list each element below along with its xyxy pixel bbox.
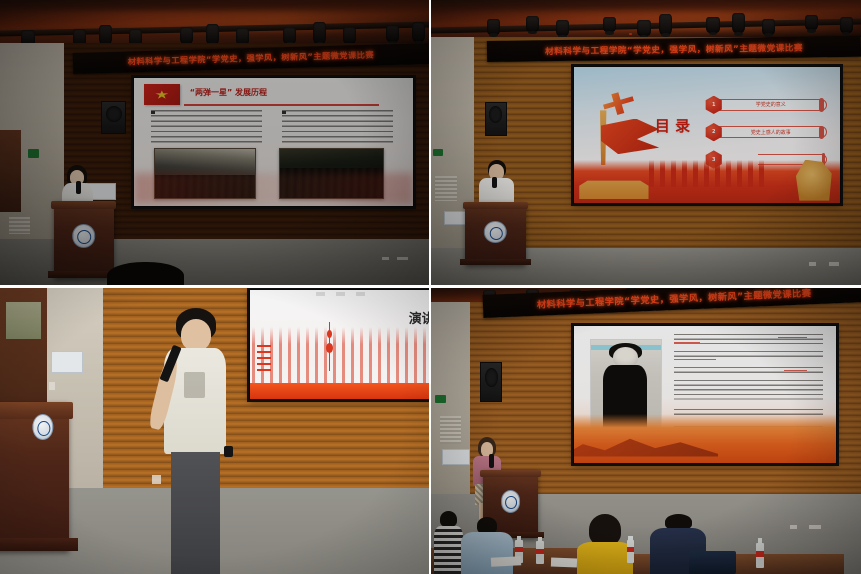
wall-notice-plate xyxy=(442,449,470,465)
oriental-pearl-tower-icon xyxy=(325,322,333,371)
stage-light-icon xyxy=(637,20,650,36)
exit-sign-icon xyxy=(435,395,446,403)
slide-two-bombs-one-satellite: “两弹一星” 发展历程 xyxy=(134,78,413,206)
glass-pane xyxy=(6,302,40,339)
screen-corner-mark xyxy=(382,257,389,261)
exit-sign-icon xyxy=(433,149,443,156)
wall-vent xyxy=(435,176,457,201)
screen-corner-mark xyxy=(397,257,407,261)
slide-table-of-contents: 目 录 1 学党史的意义 2 党史上感人的故事 3 xyxy=(574,67,841,204)
led-screen-tr: 目 录 1 学党史的意义 2 党史上感人的故事 3 xyxy=(573,66,842,205)
water-bottle xyxy=(536,541,544,564)
stage-light-icon xyxy=(412,22,425,43)
hair xyxy=(589,514,620,545)
wall-notice-plate xyxy=(51,351,83,373)
torso xyxy=(461,532,513,574)
wall-vent xyxy=(440,416,462,443)
screen-corner-mark xyxy=(829,262,839,265)
audience-head-foreground xyxy=(107,262,184,285)
stage-light-icon xyxy=(762,19,775,35)
toc-row-1[interactable]: 1 学党史的意义 xyxy=(702,97,827,113)
red-base-band xyxy=(250,383,429,399)
podium-base xyxy=(0,538,78,551)
university-emblem-icon xyxy=(32,414,53,440)
stage-light-icon xyxy=(805,15,818,31)
highlight-underline xyxy=(674,359,716,360)
mountain-graphic xyxy=(574,414,836,463)
title-underline xyxy=(184,104,379,106)
slide-title: 演讲 xyxy=(409,308,429,327)
light-indicator-icon xyxy=(629,33,632,34)
auditorium-scene-tr: 材料科学与工程学院“学党史，强学风，树新风”主题微党课比赛 目 录 1 学党史的… xyxy=(431,0,861,285)
party-emblem-icon xyxy=(595,88,640,118)
presenter-male-standing-bl xyxy=(154,308,236,574)
slide-toolbar-strip xyxy=(316,292,373,296)
water-bottle xyxy=(627,540,635,563)
podium-bl xyxy=(0,402,69,551)
wall-speaker xyxy=(101,101,127,134)
slide-title-text: 目 录 xyxy=(655,117,690,136)
screen-corner-mark xyxy=(809,525,820,528)
stage-light-icon xyxy=(283,27,296,44)
stage-light-icon xyxy=(659,14,672,35)
briefcase xyxy=(689,551,736,574)
document-sheet xyxy=(491,556,522,566)
document-sheet xyxy=(551,558,577,567)
slide-paragraph-left xyxy=(151,110,263,143)
photo-cell-bottom-right: 材料科学与工程学院“学党史，强学风，树新风”主题微党课比赛 刘胡兰 xyxy=(431,288,861,574)
audience-member xyxy=(577,514,633,574)
banner-text: 材料科学与工程学院“学党史，强学风，树新风”主题微党课比赛 xyxy=(545,42,803,58)
stage-light-icon xyxy=(526,16,539,32)
skyline-graphic xyxy=(252,327,429,384)
stage-light-icon xyxy=(706,17,719,33)
led-screen-br: 刘胡兰 xyxy=(573,325,837,464)
podium-top xyxy=(463,202,528,209)
water-bottle xyxy=(756,543,765,569)
slide-title: 目 录 xyxy=(651,88,694,165)
slide-title: “两弹一星” 发展历程 xyxy=(190,84,363,101)
university-emblem-icon xyxy=(501,490,521,513)
podium-top xyxy=(51,201,116,209)
banner-text: 材料科学与工程学院“学党史，强学风，树新风”主题微党课比赛 xyxy=(128,49,375,68)
highlight-underline xyxy=(784,370,808,371)
hair xyxy=(665,514,692,530)
screen-corner-mark xyxy=(809,262,816,265)
hair xyxy=(440,511,457,527)
stage-light-icon xyxy=(556,20,569,36)
toc-label: 党史上感人的故事 xyxy=(729,129,812,136)
shirt-graphic xyxy=(184,372,205,399)
toc-label: 学党史的意义 xyxy=(729,101,812,108)
auditorium-scene-bl: 演讲 xyxy=(0,288,429,574)
party-flag-icon xyxy=(144,84,180,105)
highlight-underline xyxy=(778,337,807,338)
photo-cell-top-right: 材料科学与工程学院“学党史，强学风，树新风”主题微党课比赛 目 录 1 学党史的… xyxy=(431,0,861,285)
red-decorative-wash xyxy=(134,173,413,204)
highlight-underline xyxy=(674,342,700,343)
legs xyxy=(171,452,220,574)
university-emblem-icon xyxy=(484,221,506,243)
torso xyxy=(434,526,463,574)
skyline-graphic xyxy=(649,160,769,187)
led-screen-tl: “两弹一星” 发展历程 xyxy=(133,77,414,207)
university-emblem-icon xyxy=(72,224,96,248)
wall-speaker xyxy=(480,362,502,402)
stage-light-icon xyxy=(386,25,399,42)
podium-top xyxy=(480,470,540,478)
toc-row-2[interactable]: 2 党史上感人的故事 xyxy=(702,124,827,140)
stage-light-icon xyxy=(313,22,326,43)
led-screen-bl: 演讲 xyxy=(249,289,429,400)
photo-collage: 材料科学与工程学院“学党史，强学风，树新风”主题微党课比赛 “两弹一星” 发展历… xyxy=(0,0,861,574)
pagoda-icon xyxy=(257,345,270,375)
exit-sign-icon xyxy=(28,149,39,157)
head xyxy=(181,319,212,351)
stage-light-icon xyxy=(603,17,616,33)
torso xyxy=(577,542,633,574)
wall-vent xyxy=(9,217,30,234)
slide-liu-hulan: 刘胡兰 xyxy=(574,326,836,463)
hair xyxy=(107,262,184,285)
podium-tr xyxy=(465,202,525,265)
slide-paragraph-4 xyxy=(674,380,824,402)
microphone-icon xyxy=(489,454,494,468)
wristwatch-icon xyxy=(224,446,233,457)
photo-cell-bottom-left: 演讲 xyxy=(0,288,429,574)
auditorium-scene-tl: 材料科学与工程学院“学党史，强学风，树新风”主题微党课比赛 “两弹一星” 发展历… xyxy=(0,0,429,285)
stage-light-icon xyxy=(840,17,853,33)
microphone-icon xyxy=(492,177,497,188)
screen-corner-mark xyxy=(790,525,797,528)
door-frame xyxy=(0,130,21,212)
podium-base xyxy=(460,259,531,265)
stage-light-icon xyxy=(487,19,500,35)
wall-speaker xyxy=(485,102,507,136)
podium-tl xyxy=(54,201,114,278)
photo-cell-top-left: 材料科学与工程学院“学党史，强学风，树新风”主题微党课比赛 “两弹一星” 发展历… xyxy=(0,0,429,285)
audience-member xyxy=(433,511,463,574)
microphone-icon xyxy=(76,181,81,194)
stage-light-icon xyxy=(732,13,745,33)
slide-paragraph-right xyxy=(282,110,394,143)
wall-switch-icon[interactable] xyxy=(49,382,55,389)
slide-speech-skyline: 演讲 xyxy=(250,290,429,399)
auditorium-scene-br: 材料科学与工程学院“学党史，强学风，树新风”主题微党课比赛 刘胡兰 xyxy=(431,288,861,574)
